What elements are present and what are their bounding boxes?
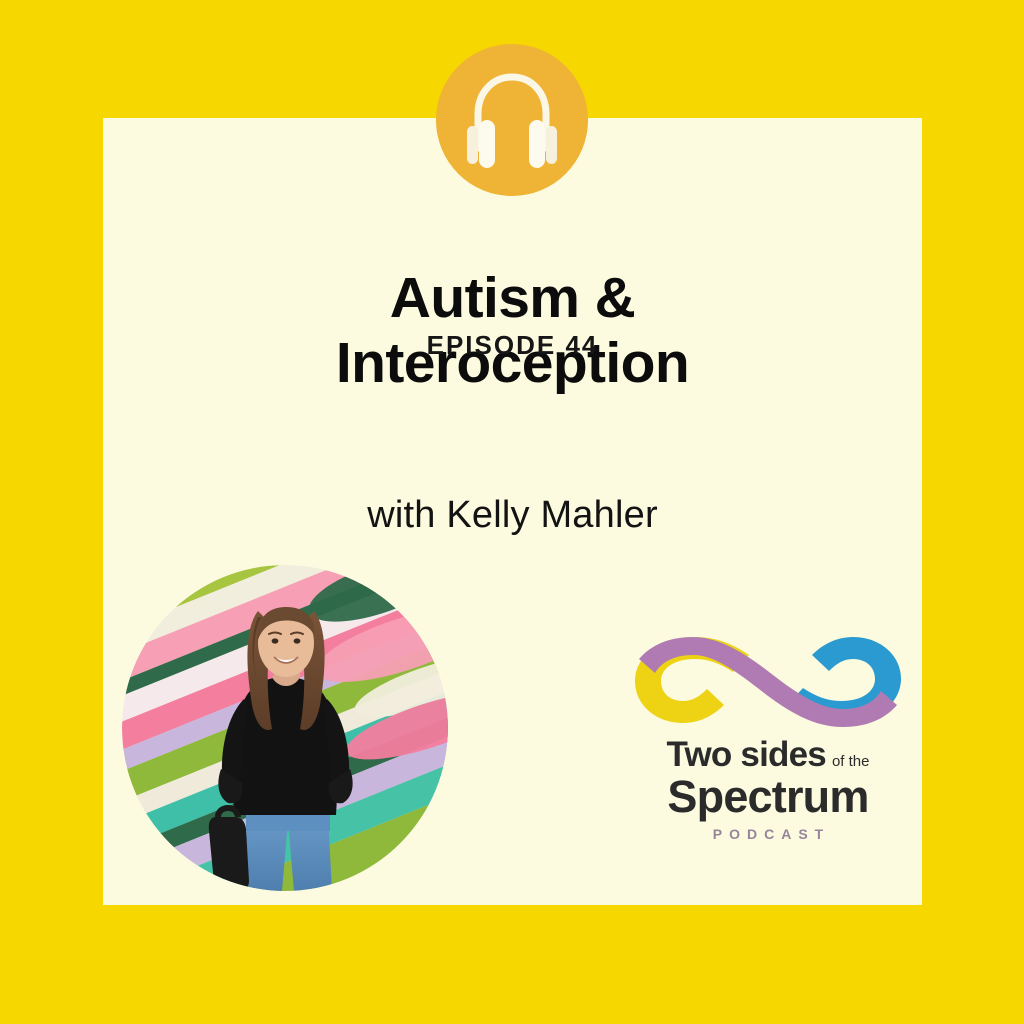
logo-of-the-text: of the [832, 754, 870, 769]
podcast-logo: Two sides of the Spectrum PODCAST [623, 623, 913, 863]
episode-title-line-1: Autism & [103, 270, 922, 327]
content-card: Autism & Interoception EPISODE 44 with K… [103, 118, 922, 905]
episode-label: EPISODE 44 [103, 330, 922, 361]
logo-two-sides-text: Two sides [667, 737, 826, 772]
logo-line-one: Two sides of the [623, 737, 913, 772]
podcast-episode-cover: Autism & Interoception EPISODE 44 with K… [0, 0, 1024, 1024]
logo-podcast-text: PODCAST [623, 826, 913, 842]
headphones-icon [436, 44, 588, 196]
infinity-icon [623, 623, 913, 735]
guest-credit: with Kelly Mahler [103, 494, 922, 537]
guest-photo [122, 565, 448, 891]
podcast-logo-type: Two sides of the Spectrum PODCAST [623, 737, 913, 842]
logo-spectrum-text: Spectrum [623, 773, 913, 820]
headphones-badge [436, 44, 588, 196]
